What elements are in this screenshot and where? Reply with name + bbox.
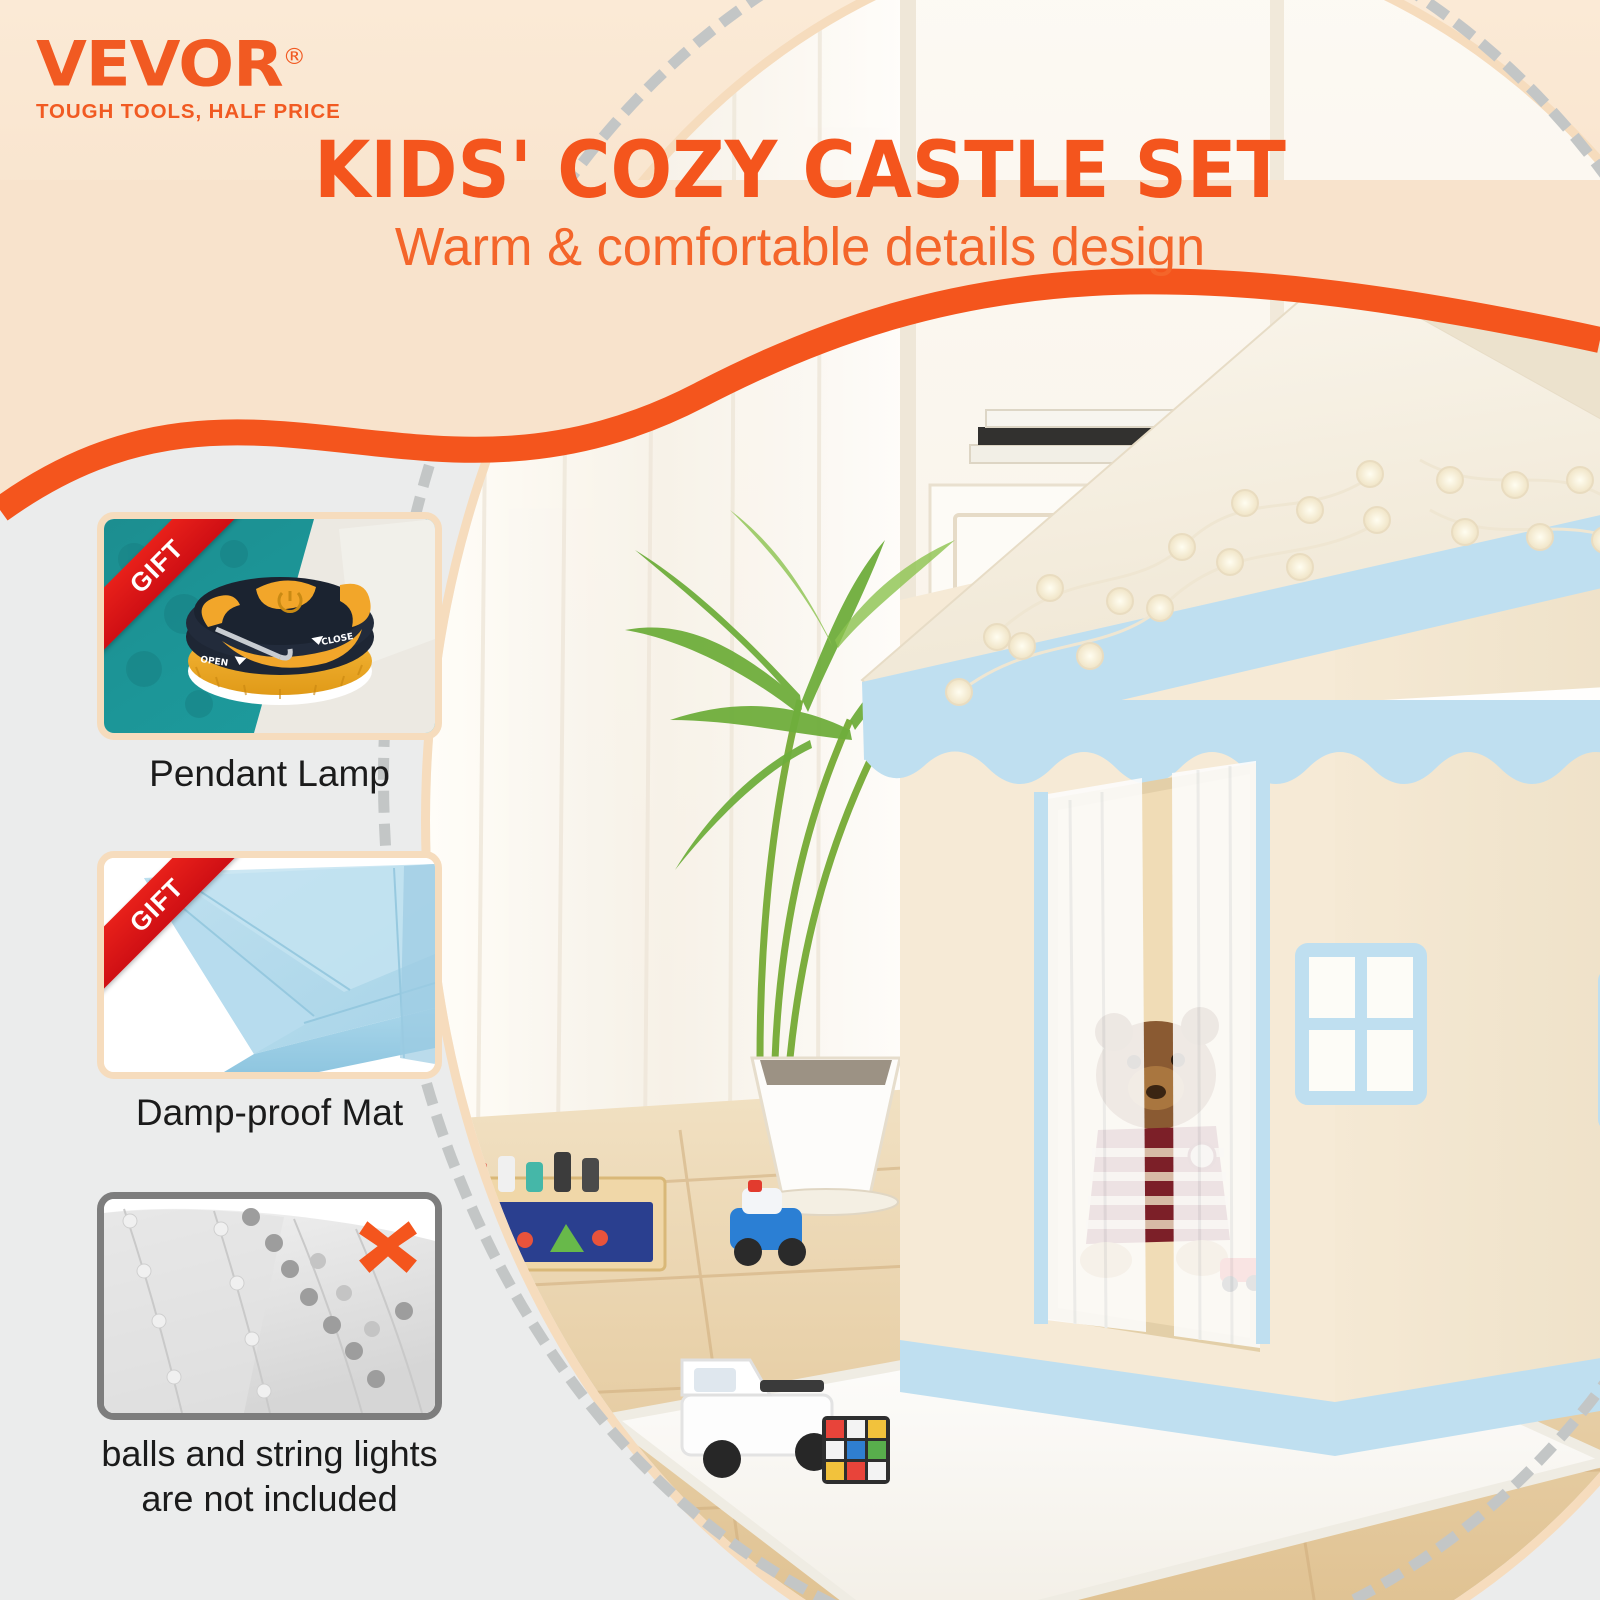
caption-line-1: balls and string lights: [97, 1431, 442, 1476]
feature-caption-not-included: balls and string lights are not included: [97, 1431, 442, 1521]
registered-icon: ®: [283, 45, 305, 70]
gift-badge-label: GIFT: [97, 512, 248, 658]
gift-ribbon: GIFT: [97, 851, 256, 1010]
gift-badge-label: GIFT: [97, 851, 248, 997]
feature-image-pendant-lamp: OPEN CLOSE GIFT: [97, 512, 442, 740]
caption-line-2: are not included: [97, 1476, 442, 1521]
product-infographic: VEVOR® TOUGH TOOLS, HALF PRICE KIDS' COZ…: [0, 0, 1600, 1600]
vevor-logo: VEVOR® TOUGH TOOLS, HALF PRICE: [36, 28, 341, 124]
feature-card-not-included: balls and string lights are not included: [97, 1192, 442, 1521]
logo-wordmark: VEVOR®: [36, 28, 305, 95]
feature-card-pendant-lamp: OPEN CLOSE GIFT Pendant Lamp: [97, 512, 442, 796]
feature-image-damp-proof-mat: GIFT: [97, 851, 442, 1079]
tent-window-left: [1302, 950, 1420, 1098]
logo-text: VEVOR: [36, 28, 283, 101]
rubiks-cube: [822, 1416, 890, 1484]
gift-ribbon: GIFT: [97, 512, 256, 671]
page-title: KIDS' COZY CASTLE SET: [56, 126, 1544, 216]
feature-image-string-lights: [97, 1192, 442, 1420]
feature-caption-pendant-lamp: Pendant Lamp: [97, 751, 442, 796]
feature-caption-damp-proof-mat: Damp-proof Mat: [97, 1090, 442, 1135]
feature-card-damp-proof-mat: GIFT Damp-proof Mat: [97, 851, 442, 1135]
logo-tagline: TOUGH TOOLS, HALF PRICE: [36, 100, 341, 124]
page-subtitle: Warm & comfortable details design: [24, 216, 1576, 278]
exclusion-x-icon: [357, 1213, 419, 1275]
